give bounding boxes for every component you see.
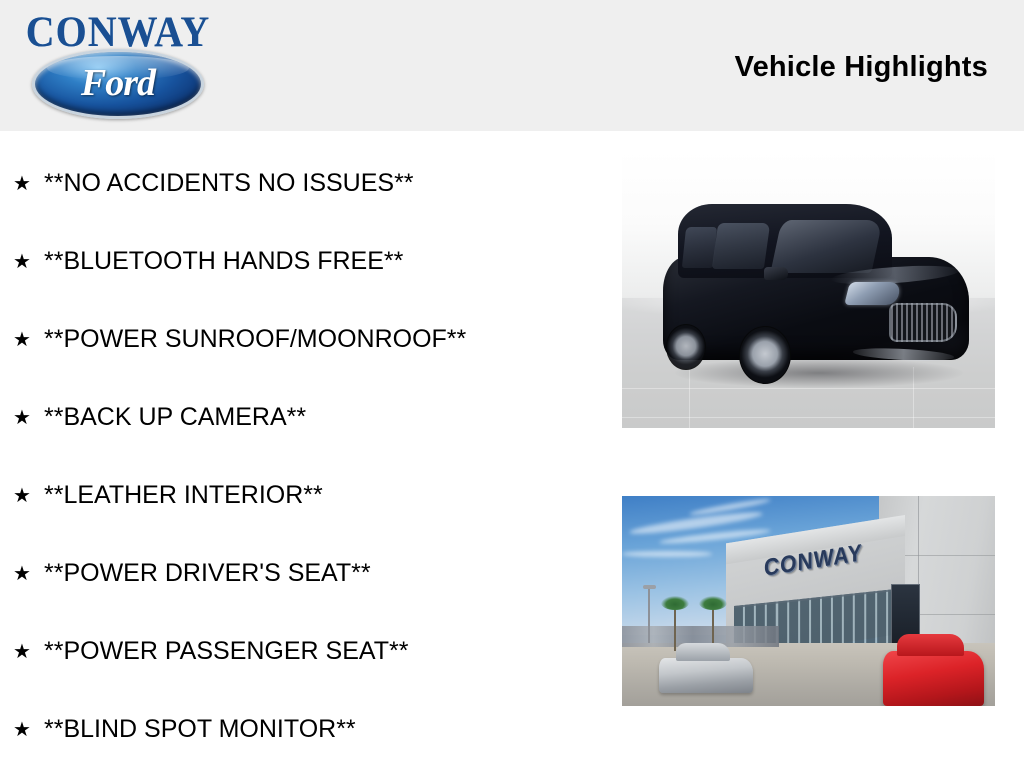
palm-tree xyxy=(674,605,676,651)
car-side-window xyxy=(712,223,770,269)
star-icon: ★ xyxy=(13,642,31,662)
highlight-text: **POWER DRIVER'S SEAT** xyxy=(44,560,371,588)
star-icon: ★ xyxy=(13,720,31,740)
list-item: ★ **NO ACCIDENTS NO ISSUES** xyxy=(0,145,600,223)
highlight-text: **POWER PASSENGER SEAT** xyxy=(44,638,408,666)
star-icon: ★ xyxy=(13,564,31,584)
ford-oval-icon: Ford xyxy=(32,49,204,119)
star-icon: ★ xyxy=(13,330,31,350)
car-shadow xyxy=(675,358,963,388)
red-sedan xyxy=(883,651,984,706)
highlight-text: **POWER SUNROOF/MOONROOF** xyxy=(44,326,466,354)
car-side-mirror xyxy=(764,267,788,279)
vehicle-highlights-list: ★ **NO ACCIDENTS NO ISSUES** ★ **BLUETOO… xyxy=(0,145,600,768)
conway-ford-logo[interactable]: CONWAY CONWAY Ford xyxy=(18,8,218,120)
highlight-text: **BLUETOOTH HANDS FREE** xyxy=(44,248,403,276)
ford-script-text: Ford xyxy=(35,52,201,116)
vehicle-highlights-page: CONWAY CONWAY Ford Vehicle Highlights ★ … xyxy=(0,0,1024,768)
car-grille xyxy=(889,303,956,342)
page-header: CONWAY CONWAY Ford Vehicle Highlights xyxy=(0,0,1024,131)
list-item: ★ **BLUETOOTH HANDS FREE** xyxy=(0,223,600,301)
list-item: ★ **POWER DRIVER'S SEAT** xyxy=(0,535,600,613)
star-icon: ★ xyxy=(13,174,31,194)
star-icon: ★ xyxy=(13,408,31,428)
floor-seam xyxy=(622,417,995,418)
light-pole xyxy=(648,588,650,643)
star-icon: ★ xyxy=(13,486,31,506)
page-title: Vehicle Highlights xyxy=(735,51,988,84)
silver-sedan xyxy=(659,658,752,694)
list-item: ★ **POWER SUNROOF/MOONROOF** xyxy=(0,301,600,379)
highlight-text: **BACK UP CAMERA** xyxy=(44,404,306,432)
highlight-text: **LEATHER INTERIOR** xyxy=(44,482,323,510)
list-item: ★ **BLIND SPOT MONITOR** xyxy=(0,691,600,768)
car-rear-wheel xyxy=(666,324,706,370)
car-headlight xyxy=(844,282,902,305)
suv-illustration xyxy=(663,204,969,381)
dealership-photo[interactable]: CONWAY xyxy=(622,496,995,706)
highlight-text: **NO ACCIDENTS NO ISSUES** xyxy=(44,170,414,198)
highlight-text: **BLIND SPOT MONITOR** xyxy=(44,716,356,744)
cloud xyxy=(622,551,712,557)
vehicle-photo[interactable] xyxy=(622,151,995,428)
star-icon: ★ xyxy=(13,252,31,272)
car-windshield xyxy=(771,220,883,273)
list-item: ★ **BACK UP CAMERA** xyxy=(0,379,600,457)
list-item: ★ **LEATHER INTERIOR** xyxy=(0,457,600,535)
list-item: ★ **POWER PASSENGER SEAT** xyxy=(0,613,600,691)
floor-seam xyxy=(622,388,995,389)
